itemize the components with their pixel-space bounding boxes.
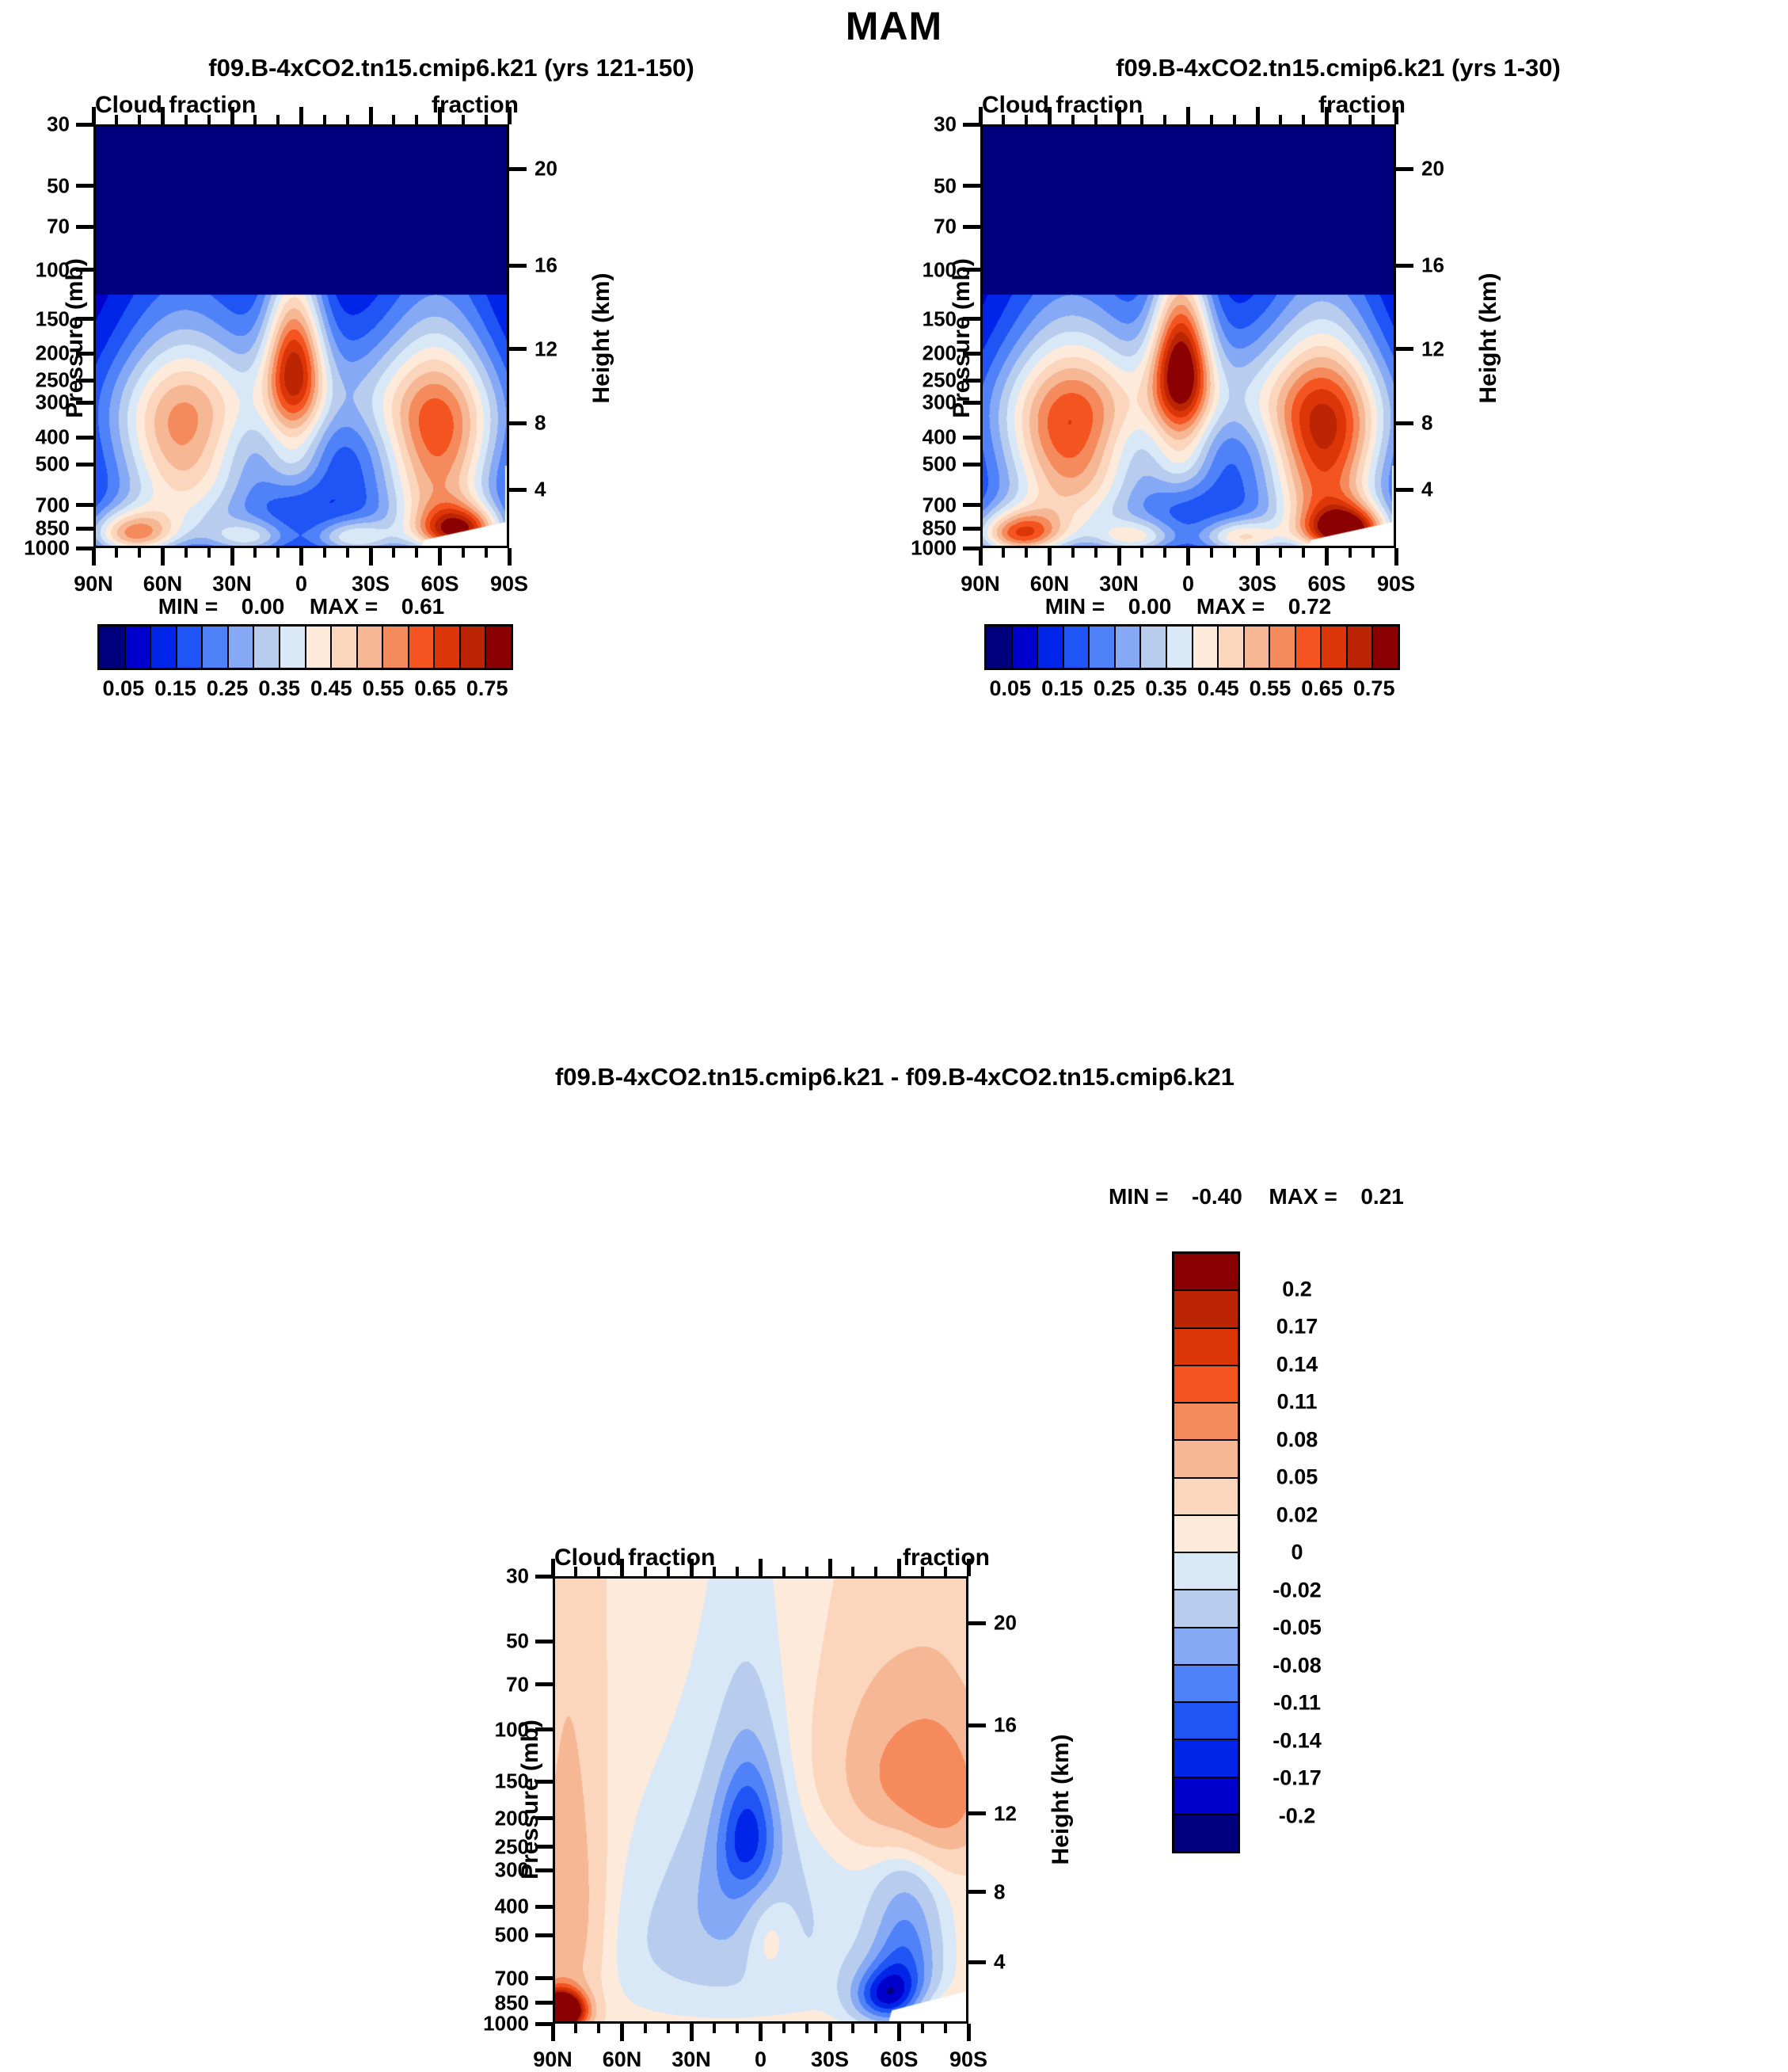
latitude-minor-tick [805, 2024, 808, 2033]
pressure-tick [76, 268, 93, 272]
latitude-minor-tick [1094, 548, 1098, 558]
min-label-top-right: MIN = [1045, 594, 1105, 619]
pressure-tick [76, 317, 93, 321]
pressure-tick [963, 379, 980, 383]
top-axis-tick [897, 1559, 901, 1576]
colorbar-cell [1167, 627, 1193, 668]
colorbar-cell [1348, 627, 1374, 668]
latitude-minor-tick [644, 2024, 647, 2033]
max-value-bottom-diff: 0.21 [1360, 1184, 1404, 1209]
pressure-tick-label: 200 [838, 341, 957, 366]
top-axis-tick [508, 107, 512, 124]
colorbar-tick-label: 0.15 [154, 676, 196, 701]
height-tick-label: 4 [994, 1950, 1005, 1975]
colorbar-cell [1174, 1628, 1238, 1666]
pressure-tick [963, 352, 980, 356]
contour-canvas-top-left [96, 127, 509, 548]
latitude-minor-tick [851, 2024, 854, 2033]
colorbar-cell [306, 627, 333, 668]
latitude-minor-tick [138, 548, 141, 558]
pressure-tick-label: 1000 [410, 2012, 529, 2036]
top-axis-minor-tick [874, 1567, 877, 1576]
max-label-top-right: MAX = [1196, 594, 1265, 619]
latitude-tick-label: 90S [490, 572, 528, 596]
height-axis-title-top-right: Height (km) [1475, 227, 1502, 449]
latitude-tick [967, 2024, 971, 2041]
latitude-minor-tick [485, 548, 488, 558]
pressure-tick [535, 1976, 553, 1980]
min-value-top-right: 0.00 [1128, 594, 1172, 619]
top-axis-minor-tick [276, 115, 280, 124]
latitude-minor-tick [1279, 548, 1282, 558]
top-axis-minor-tick [944, 1567, 947, 1576]
colorbar-cell [1174, 1553, 1238, 1590]
pressure-tick [963, 401, 980, 405]
pressure-tick [76, 463, 93, 467]
pressure-tick [535, 1682, 553, 1686]
latitude-tick-label: 90S [1377, 572, 1415, 596]
height-tick-label: 8 [1421, 411, 1432, 436]
pressure-tick-label: 30 [410, 1564, 529, 1589]
latitude-minor-tick [253, 548, 257, 558]
pressure-tick [963, 503, 980, 507]
top-axis-minor-tick [115, 115, 118, 124]
latitude-tick-label: 30N [1099, 572, 1139, 596]
top-axis-tick [161, 107, 165, 124]
height-tick-label: 20 [1421, 157, 1444, 181]
pressure-tick [963, 317, 980, 321]
colorbar-cell [1322, 627, 1348, 668]
pressure-tick [963, 463, 980, 467]
pressure-tick [76, 379, 93, 383]
latitude-minor-tick [392, 548, 395, 558]
height-tick-label: 20 [534, 157, 557, 181]
colorbar-cell [1174, 1815, 1238, 1851]
latitude-tick-label: 60S [420, 572, 458, 596]
top-axis-minor-tick [851, 1567, 854, 1576]
latitude-minor-tick [1371, 548, 1375, 558]
top-axis-minor-tick [1163, 115, 1166, 124]
latitude-tick [1256, 548, 1260, 566]
pressure-tick [76, 527, 93, 531]
top-axis-tick [551, 1559, 555, 1576]
height-tick-label: 12 [534, 337, 557, 361]
latitude-minor-tick [1302, 548, 1305, 558]
colorbar-cell [100, 627, 126, 668]
latitude-tick [92, 548, 96, 566]
pressure-tick-label: 300 [410, 1858, 529, 1883]
colorbar-top-left[interactable] [97, 624, 513, 670]
top-axis-minor-tick [1302, 115, 1305, 124]
top-axis-minor-tick [1071, 115, 1075, 124]
height-tick [1396, 347, 1413, 351]
colorbar-tick-label: 0.14 [1276, 1352, 1318, 1377]
top-axis-minor-tick [485, 115, 488, 124]
pressure-tick [76, 436, 93, 440]
latitude-tick-label: 90N [74, 572, 113, 596]
colorbar-cell [1174, 1479, 1238, 1516]
height-tick-label: 16 [994, 1713, 1017, 1738]
top-axis-minor-tick [921, 1567, 924, 1576]
top-axis-minor-tick [462, 115, 465, 124]
height-tick-label: 4 [1421, 478, 1432, 502]
colorbar-cell [177, 627, 204, 668]
colorbar-cell [1296, 627, 1322, 668]
latitude-minor-tick [713, 2024, 716, 2033]
latitude-tick-label: 60N [1030, 572, 1070, 596]
colorbar-cell [1174, 1366, 1238, 1404]
top-axis-minor-tick [207, 115, 211, 124]
latitude-tick [551, 2024, 555, 2041]
colorbar-tick-label: 0.02 [1276, 1503, 1318, 1527]
colorbar-tick-label: 0.75 [1353, 676, 1395, 701]
latitude-tick-label: 30N [671, 2047, 711, 2072]
top-axis-tick [979, 107, 983, 124]
top-axis-tick [92, 107, 96, 124]
colorbar-tick-label: 0.65 [1301, 676, 1343, 701]
minmax-top-right: MIN = 0.00 MAX = 0.72 [980, 594, 1396, 619]
pressure-tick [535, 1845, 553, 1849]
latitude-tick-label: 30N [212, 572, 252, 596]
contour-plot-top-right[interactable] [980, 124, 1396, 548]
height-tick [1396, 421, 1413, 425]
top-axis-minor-tick [185, 115, 188, 124]
latitude-tick [1394, 548, 1398, 566]
colorbar-tick-label: 0.15 [1041, 676, 1083, 701]
latitude-minor-tick [921, 2024, 924, 2033]
colorbar-tick-label: -0.11 [1273, 1691, 1321, 1716]
colorbar-cell [1219, 627, 1245, 668]
latitude-minor-tick [1140, 548, 1143, 558]
top-axis-minor-tick [253, 115, 257, 124]
latitude-tick [1048, 548, 1052, 566]
top-axis-minor-tick [597, 1567, 600, 1576]
height-tick-label: 8 [994, 1880, 1005, 1904]
top-axis-minor-tick [574, 1567, 577, 1576]
colorbar-tick-label: 0.05 [990, 676, 1032, 701]
colorbar-tick-label: 0.75 [466, 676, 508, 701]
colorbar-cell [1174, 1703, 1238, 1740]
height-tick [509, 167, 527, 171]
colorbar-tick-label: 0.17 [1276, 1315, 1318, 1339]
top-axis-minor-tick [1002, 115, 1005, 124]
top-axis-minor-tick [713, 1567, 716, 1576]
min-value-top-left: 0.00 [242, 594, 285, 619]
pressure-tick-label: 700 [838, 493, 957, 517]
contour-plot-bottom-diff[interactable] [553, 1576, 968, 2024]
top-axis-minor-tick [736, 1567, 739, 1576]
colorbar-cell [1174, 1666, 1238, 1703]
pressure-tick-label: 70 [0, 215, 70, 239]
latitude-tick-label: 90N [961, 572, 1000, 596]
pressure-tick [963, 184, 980, 188]
colorbar-cell [461, 627, 487, 668]
top-axis-minor-tick [1140, 115, 1143, 124]
top-axis-minor-tick [1349, 115, 1352, 124]
height-tick [509, 347, 527, 351]
units-label-top-left: fraction [432, 92, 519, 119]
pressure-tick [76, 503, 93, 507]
latitude-minor-tick [1025, 548, 1028, 558]
pressure-tick-label: 700 [410, 1966, 529, 1990]
pressure-tick [76, 225, 93, 229]
colorbar-cell [1174, 1590, 1238, 1628]
colorbar-tick-label: 0.25 [1094, 676, 1136, 701]
height-tick [968, 1960, 986, 1964]
pressure-tick-label: 70 [838, 215, 957, 239]
pressure-tick-label: 150 [410, 1769, 529, 1794]
latitude-tick-label: 0 [295, 572, 307, 596]
colorbar-cell [435, 627, 461, 668]
height-tick [509, 488, 527, 492]
pressure-tick [963, 225, 980, 229]
colorbar-cell [358, 627, 384, 668]
latitude-minor-tick [782, 2024, 786, 2033]
latitude-tick [759, 2024, 763, 2041]
latitude-minor-tick [736, 2024, 739, 2033]
pressure-tick [535, 1905, 553, 1909]
latitude-tick [508, 548, 512, 566]
latitude-minor-tick [1210, 548, 1213, 558]
height-tick [968, 1621, 986, 1625]
max-label-bottom-diff: MAX = [1269, 1184, 1337, 1209]
latitude-minor-tick [185, 548, 188, 558]
pressure-tick-label: 150 [838, 307, 957, 331]
colorbar-cell [1141, 627, 1167, 668]
pressure-tick-label: 250 [410, 1834, 529, 1859]
pressure-tick [535, 1868, 553, 1872]
units-label-top-right: fraction [1318, 92, 1406, 119]
top-axis-minor-tick [644, 1567, 647, 1576]
colorbar-cell [254, 627, 280, 668]
latitude-minor-tick [415, 548, 418, 558]
top-axis-tick [438, 107, 442, 124]
panel-top-right: f09.B-4xCO2.tn15.cmip6.k21 (yrs 1-30) Cl… [934, 48, 1742, 1077]
latitude-minor-tick [944, 2024, 947, 2033]
latitude-minor-tick [1349, 548, 1352, 558]
panel-bottom-diff: f09.B-4xCO2.tn15.cmip6.k21 - f09.B-4xCO2… [348, 1053, 1441, 1877]
minmax-bottom-diff: MIN = -0.40 MAX = 0.21 [1109, 1184, 1404, 1209]
colorbar-tick-label: 0.65 [414, 676, 456, 701]
contour-canvas-top-right [983, 127, 1396, 548]
latitude-tick [230, 548, 234, 566]
latitude-tick [299, 548, 303, 566]
latitude-minor-tick [874, 2024, 877, 2033]
top-axis-tick [1394, 107, 1398, 124]
pressure-tick [535, 1933, 553, 1937]
colorbar-cell [1270, 627, 1296, 668]
pressure-tick [76, 184, 93, 188]
top-axis-tick [620, 1559, 624, 1576]
pressure-tick-label: 1000 [838, 536, 957, 561]
colorbar-tick-label: 0.11 [1276, 1390, 1317, 1415]
colorbar-cell [1174, 1778, 1238, 1815]
top-axis-tick [759, 1559, 763, 1576]
top-axis-minor-tick [667, 1567, 670, 1576]
pressure-tick-label: 500 [0, 452, 70, 477]
top-axis-tick [299, 107, 303, 124]
pressure-tick-label: 30 [838, 112, 957, 137]
height-tick [1396, 167, 1413, 171]
colorbar-cell [1116, 627, 1142, 668]
height-tick [968, 1811, 986, 1815]
colorbar-tick-label: -0.14 [1273, 1728, 1322, 1753]
height-tick-label: 4 [534, 478, 546, 502]
top-axis-minor-tick [1210, 115, 1213, 124]
latitude-minor-tick [574, 2024, 577, 2033]
top-axis-minor-tick [1279, 115, 1282, 124]
height-tick [968, 1723, 986, 1727]
latitude-minor-tick [207, 548, 211, 558]
colorbar-cell [1013, 627, 1039, 668]
top-axis-minor-tick [415, 115, 418, 124]
top-axis-tick [967, 1559, 971, 1576]
pressure-tick [76, 352, 93, 356]
colorbar-cell [486, 627, 511, 668]
colorbar-tick-label: 0.2 [1282, 1277, 1312, 1301]
colorbar-cell [1038, 627, 1064, 668]
pressure-tick [535, 2001, 553, 2005]
height-axis-title-top-left: Height (km) [588, 227, 615, 449]
colorbar-cell [280, 627, 306, 668]
max-value-top-left: 0.61 [401, 594, 445, 619]
latitude-tick [1325, 548, 1329, 566]
pressure-tick-label: 50 [0, 173, 70, 198]
colorbar-tick-label: 0.55 [1250, 676, 1292, 701]
colorbar-cell [987, 627, 1013, 668]
pressure-tick-label: 500 [838, 452, 957, 477]
top-axis-tick [828, 1559, 832, 1576]
contour-canvas-bottom-diff [555, 1579, 968, 2024]
pressure-tick [76, 401, 93, 405]
pressure-tick [535, 1727, 553, 1731]
colorbar-tick-label: -0.08 [1273, 1653, 1322, 1678]
colorbar-tick-label: 0.45 [1197, 676, 1239, 701]
latitude-tick-label: 60N [143, 572, 183, 596]
colorbar-cell [383, 627, 409, 668]
colorbar-cell [1174, 1404, 1238, 1441]
height-tick-label: 16 [534, 253, 557, 278]
top-axis-tick [690, 1559, 694, 1576]
pressure-tick-label: 100 [410, 1717, 529, 1742]
pressure-tick-label: 400 [838, 425, 957, 450]
colorbar-top-right[interactable] [984, 624, 1400, 670]
top-axis-tick [1325, 107, 1329, 124]
pressure-tick-label: 30 [0, 112, 70, 137]
panel-top-left: f09.B-4xCO2.tn15.cmip6.k21 (yrs 121-150)… [48, 48, 855, 1077]
latitude-minor-tick [597, 2024, 600, 2033]
min-value-bottom-diff: -0.40 [1192, 1184, 1242, 1209]
pressure-tick-label: 200 [0, 341, 70, 366]
colorbar-tick-label: 0 [1291, 1541, 1303, 1565]
latitude-minor-tick [276, 548, 280, 558]
min-label-bottom-diff: MIN = [1109, 1184, 1168, 1209]
pressure-tick-label: 1000 [0, 536, 70, 561]
pressure-tick-label: 500 [410, 1923, 529, 1948]
latitude-tick [897, 2024, 901, 2041]
pressure-tick [535, 1816, 553, 1820]
colorbar-tick-label: 0.35 [258, 676, 300, 701]
height-axis-title-bottom-diff: Height (km) [1048, 1689, 1075, 1910]
latitude-tick-label: 60S [1307, 572, 1345, 596]
colorbar-cell [1174, 1291, 1238, 1328]
latitude-tick [620, 2024, 624, 2041]
latitude-tick-label: 60S [880, 2047, 918, 2072]
latitude-tick [1186, 548, 1190, 566]
latitude-tick-label: 30S [352, 572, 390, 596]
colorbar-cell [1245, 627, 1271, 668]
top-axis-minor-tick [805, 1567, 808, 1576]
latitude-minor-tick [1233, 548, 1236, 558]
pressure-tick-label: 200 [410, 1806, 529, 1830]
colorbar-tick-label: 0.35 [1145, 676, 1187, 701]
height-tick [509, 421, 527, 425]
latitude-tick-label: 60N [603, 2047, 642, 2072]
pressure-tick [963, 436, 980, 440]
latitude-minor-tick [462, 548, 465, 558]
pressure-tick [535, 1640, 553, 1644]
colorbar-cell [151, 627, 177, 668]
latitude-tick [161, 548, 165, 566]
top-axis-minor-tick [1371, 115, 1375, 124]
panel-title-top-right: f09.B-4xCO2.tn15.cmip6.k21 (yrs 1-30) [934, 54, 1742, 82]
pressure-tick-label: 100 [838, 257, 957, 282]
colorbar-tick-label: 0.08 [1276, 1427, 1318, 1452]
colorbar-tick-label: 0.05 [103, 676, 145, 701]
pressure-tick-label: 150 [0, 307, 70, 331]
latitude-tick [369, 548, 373, 566]
top-axis-tick [1186, 107, 1190, 124]
top-axis-minor-tick [1233, 115, 1236, 124]
colorbar-cell [1174, 1740, 1238, 1777]
height-tick [968, 1890, 986, 1894]
colorbar-tick-label: 0.25 [207, 676, 249, 701]
pressure-tick-label: 250 [838, 368, 957, 393]
colorbar-tick-label: -0.05 [1273, 1616, 1322, 1640]
max-label-top-left: MAX = [310, 594, 378, 619]
minmax-top-left: MIN = 0.00 MAX = 0.61 [93, 594, 509, 619]
top-axis-tick [1256, 107, 1260, 124]
top-axis-minor-tick [138, 115, 141, 124]
top-axis-minor-tick [1094, 115, 1098, 124]
colorbar-bottom-diff[interactable] [1172, 1251, 1240, 1853]
colorbar-cell [203, 627, 229, 668]
pressure-tick-label: 400 [410, 1895, 529, 1919]
top-axis-minor-tick [392, 115, 395, 124]
colorbar-cell [1174, 1441, 1238, 1478]
contour-plot-top-left[interactable] [93, 124, 509, 548]
colorbar-cell [126, 627, 152, 668]
pressure-tick-label: 300 [838, 390, 957, 415]
colorbar-cell [1174, 1329, 1238, 1366]
height-tick [1396, 488, 1413, 492]
pressure-tick-label: 70 [410, 1672, 529, 1697]
latitude-minor-tick [1163, 548, 1166, 558]
pressure-tick-label: 300 [0, 390, 70, 415]
colorbar-cell [1064, 627, 1090, 668]
colorbar-cell [1090, 627, 1116, 668]
colorbar-cell [1193, 627, 1219, 668]
pressure-tick-label: 50 [838, 173, 957, 198]
top-axis-tick [1117, 107, 1121, 124]
colorbar-tick-label: 0.05 [1276, 1465, 1318, 1490]
latitude-tick-label: 0 [755, 2047, 767, 2072]
height-tick [1396, 264, 1413, 268]
top-axis-minor-tick [782, 1567, 786, 1576]
latitude-minor-tick [1002, 548, 1005, 558]
pressure-tick [535, 1780, 553, 1784]
latitude-tick [690, 2024, 694, 2041]
